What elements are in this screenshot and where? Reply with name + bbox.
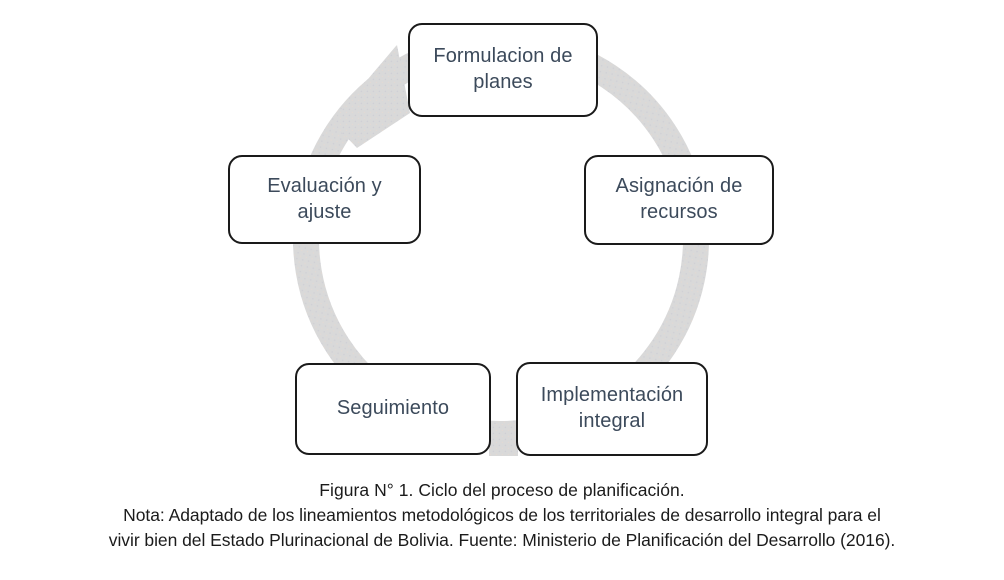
cycle-node-implementacion[interactable]: Implementación integral — [516, 362, 708, 456]
cycle-bottom-connector — [489, 424, 518, 456]
cycle-node-asignacion[interactable]: Asignación de recursos — [584, 155, 774, 245]
cycle-node-implementacion-label: Implementación integral — [526, 383, 698, 434]
figure-caption-title: Figura N° 1. Ciclo del proceso de planif… — [0, 478, 1004, 503]
cycle-arrowhead-icon — [332, 45, 410, 148]
cycle-node-evaluacion-label: Evaluación y ajuste — [238, 174, 411, 225]
cycle-node-formulacion[interactable]: Formulacion de planes — [408, 23, 598, 117]
figure-caption-note-line-1: Nota: Adaptado de los lineamientos metod… — [0, 503, 1004, 528]
cycle-diagram-figure: Formulacion de planes Asignación de recu… — [0, 0, 1004, 470]
cycle-node-seguimiento[interactable]: Seguimiento — [295, 363, 491, 455]
figure-caption-note-line-2: vivir bien del Estado Plurinacional de B… — [0, 528, 1004, 553]
cycle-node-seguimiento-label: Seguimiento — [305, 396, 481, 422]
cycle-node-formulacion-label: Formulacion de planes — [418, 44, 588, 95]
cycle-node-asignacion-label: Asignación de recursos — [594, 174, 764, 225]
cycle-node-evaluacion[interactable]: Evaluación y ajuste — [228, 155, 421, 244]
figure-caption: Figura N° 1. Ciclo del proceso de planif… — [0, 478, 1004, 553]
